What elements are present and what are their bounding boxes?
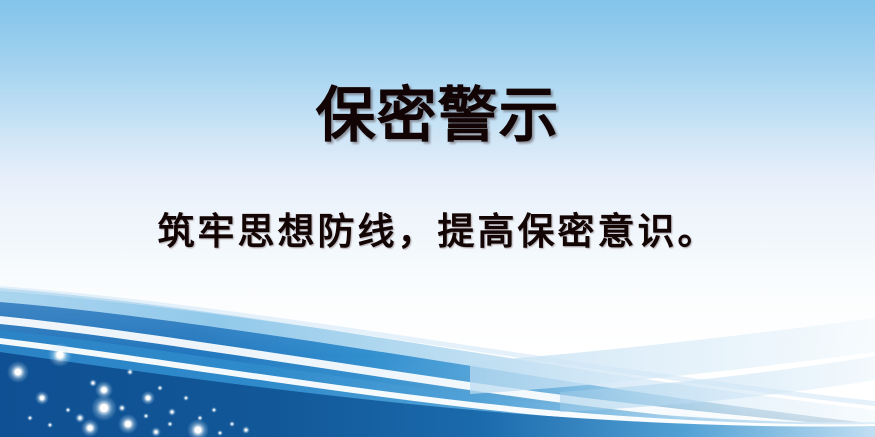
wave-right-pale-band — [470, 318, 875, 394]
wave-band-bottom — [0, 352, 875, 437]
sparkle-dots — [7, 343, 250, 437]
banner-text-block: 保密警示 筑牢思想防线，提高保密意识。 — [0, 0, 875, 300]
wave-white-sliver — [0, 316, 875, 436]
wave-main-body — [0, 302, 875, 437]
wave-faint-arc — [0, 286, 875, 406]
wave-band-secondary — [0, 330, 875, 437]
page-subtitle: 筑牢思想防线，提高保密意识。 — [0, 209, 875, 255]
page-title: 保密警示 — [0, 83, 875, 149]
wave-ribbon-top — [0, 288, 875, 424]
wave-main-shade — [0, 302, 875, 437]
wave-right-pale-band-2 — [560, 356, 875, 412]
wave-highlight-swoosh — [0, 338, 875, 430]
secrecy-warning-banner: 保密警示 筑牢思想防线，提高保密意识。 — [0, 0, 875, 437]
